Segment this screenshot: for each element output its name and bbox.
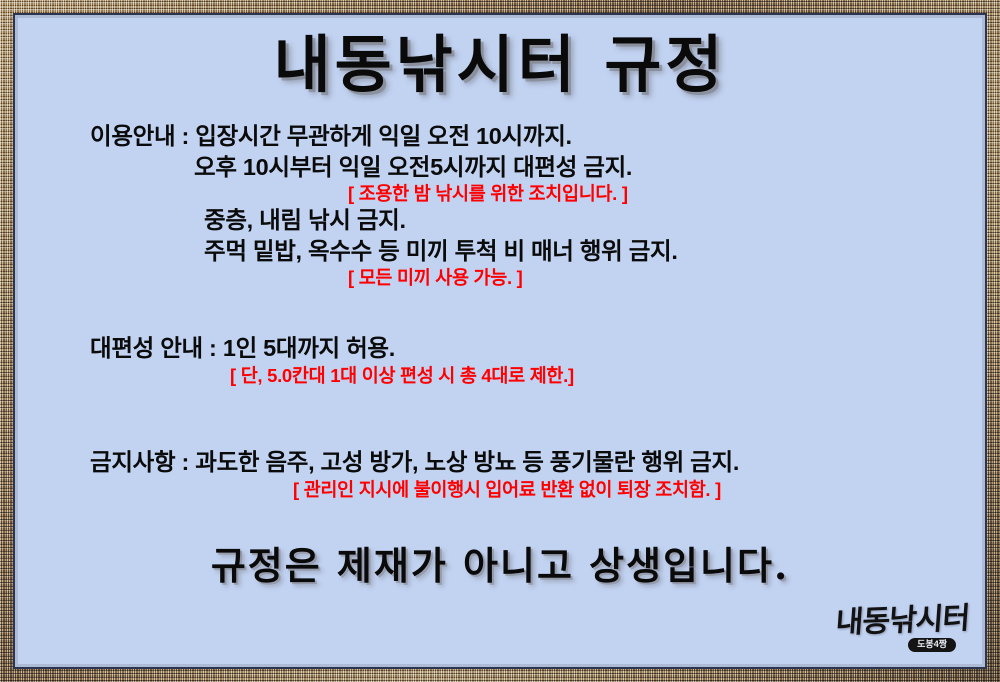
page-title: 내동낚시터 규정 <box>18 18 982 99</box>
closing-slogan: 규정은 제재가 아니고 상생입니다. <box>18 501 982 590</box>
brand-wordmark: 내동낚시터 <box>835 604 971 639</box>
section-usage-guide: 이용안내 : 입장시간 무관하게 익일 오전 10시까지. 오후 10시부터 익… <box>18 121 982 289</box>
prohibited-note-1: [ 관리인 지시에 불이행시 입어료 반환 없이 퇴장 조치함. ] <box>18 478 982 501</box>
usage-note-1: [ 조용한 밤 낚시를 위한 조치입니다. ] <box>18 182 982 205</box>
sign-board: 내동낚시터 규정 이용안내 : 입장시간 무관하게 익일 오전 10시까지. 오… <box>18 18 982 664</box>
formation-note-1: [ 단, 5.0칸대 1대 이상 편성 시 총 4대로 제한.] <box>18 364 982 387</box>
rules-body: 이용안내 : 입장시간 무관하게 익일 오전 10시까지. 오후 10시부터 익… <box>18 121 982 501</box>
brand-logo: 내동낚시터 도봉4짱 <box>772 604 968 662</box>
usage-line-3: 중층, 내림 낚시 금지. <box>18 205 982 236</box>
usage-note-2: [ 모든 미끼 사용 가능. ] <box>18 266 982 289</box>
usage-line-4: 주먹 밑밥, 옥수수 등 미끼 투척 비 매너 행위 금지. <box>18 236 982 267</box>
formation-line-1: 대편성 안내 : 1인 5대까지 허용. <box>18 333 982 364</box>
sign-frame: 내동낚시터 규정 이용안내 : 입장시간 무관하게 익일 오전 10시까지. 오… <box>0 0 1000 682</box>
brand-badge: 도봉4짱 <box>908 638 956 652</box>
section-prohibitions: 금지사항 : 과도한 음주, 고성 방가, 노상 방뇨 등 풍기물란 행위 금지… <box>18 447 982 501</box>
prohibited-line-1: 금지사항 : 과도한 음주, 고성 방가, 노상 방뇨 등 풍기물란 행위 금지… <box>18 447 982 478</box>
section-rod-formation: 대편성 안내 : 1인 5대까지 허용. [ 단, 5.0칸대 1대 이상 편성… <box>18 333 982 387</box>
usage-line-2: 오후 10시부터 익일 오전5시까지 대편성 금지. <box>18 152 982 183</box>
usage-line-1: 이용안내 : 입장시간 무관하게 익일 오전 10시까지. <box>18 121 982 152</box>
